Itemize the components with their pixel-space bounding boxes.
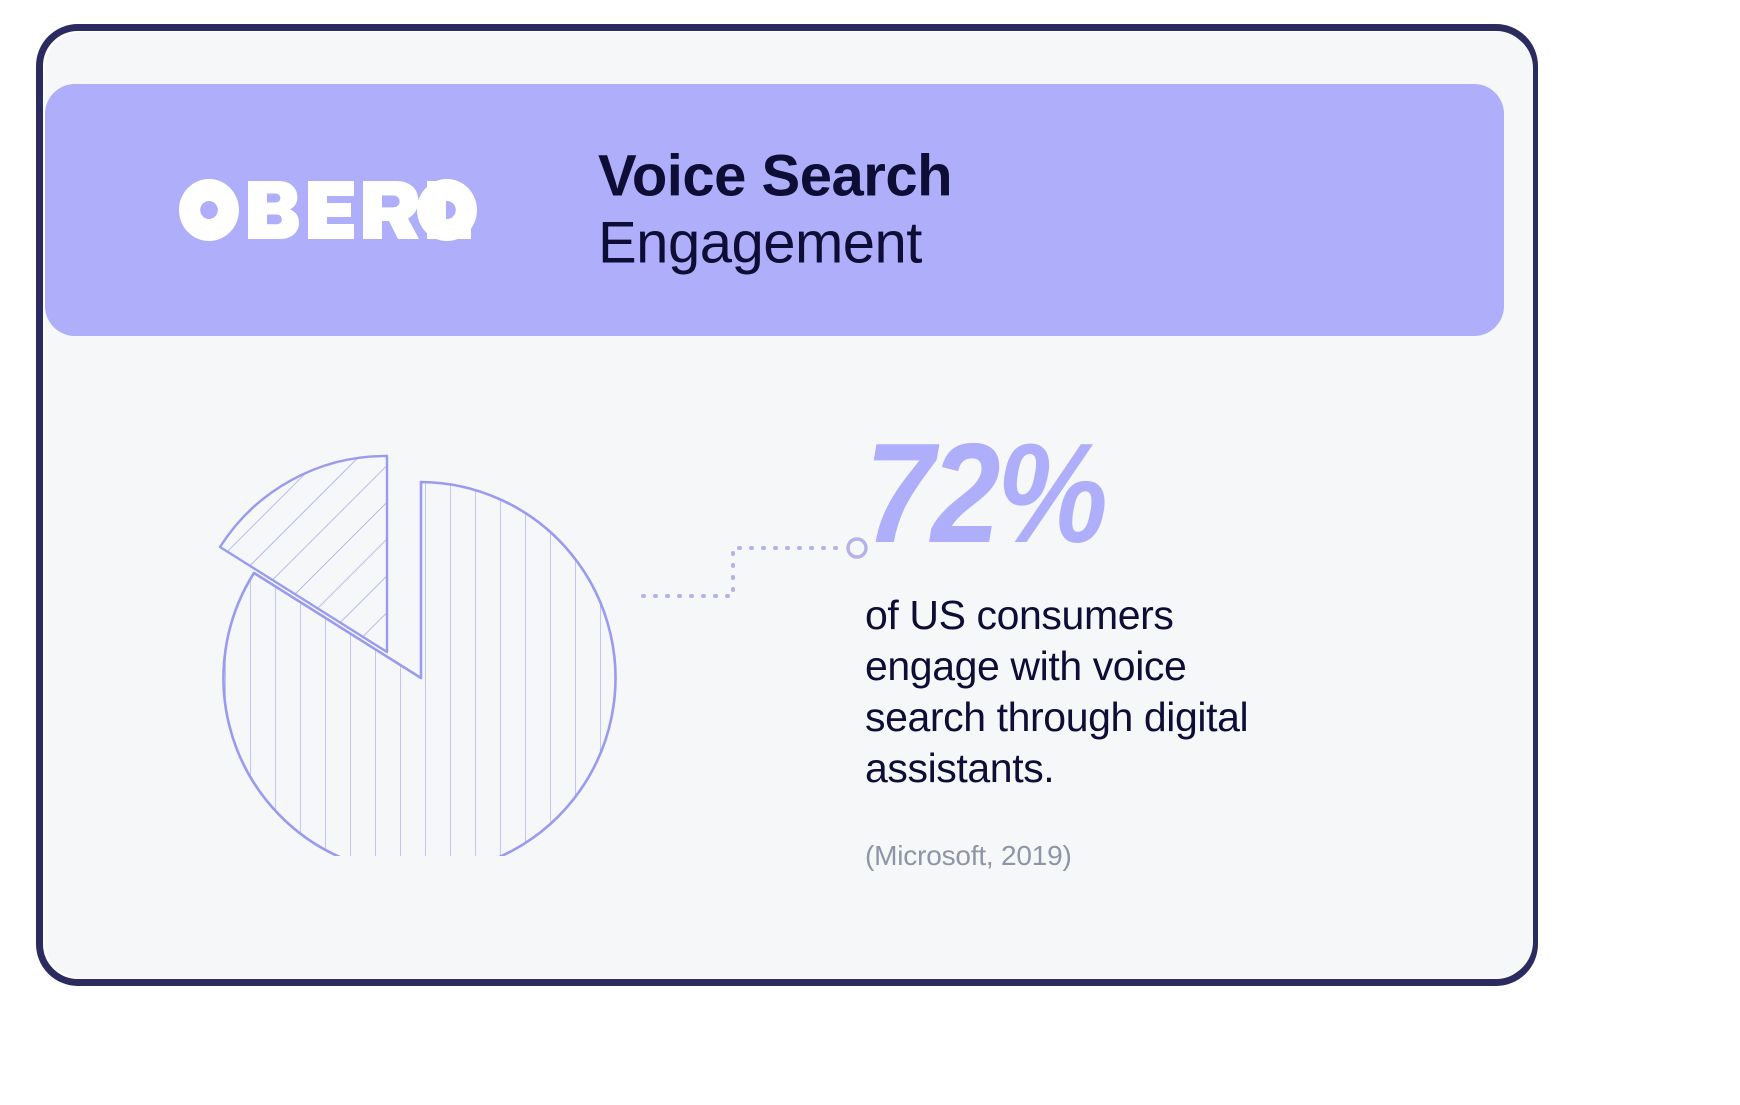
- pie-chart-icon: [175, 406, 675, 856]
- callout-connector: [585, 486, 885, 616]
- circle-endpoint-icon: [848, 539, 866, 557]
- stat-description: of US consumers engage with voice search…: [865, 590, 1285, 793]
- pie-chart-illustration: [175, 406, 675, 856]
- connector-dotted-path: [643, 548, 847, 596]
- stat-value: 72%: [865, 436, 1323, 552]
- stat-block: 72% of US consumers engage with voice se…: [865, 436, 1385, 872]
- oberlo-wordmark-icon: [179, 179, 479, 241]
- connector-icon: [585, 486, 885, 616]
- page-title-primary: Voice Search: [598, 146, 952, 207]
- page-title-secondary: Engagement: [598, 213, 952, 274]
- infographic-card: Voice Search Engagement: [45, 32, 1533, 978]
- oberlo-logo: [179, 179, 479, 241]
- header-title-block: Voice Search Engagement: [598, 146, 952, 275]
- main-content: 72% of US consumers engage with voice se…: [45, 336, 1533, 978]
- header-banner: Voice Search Engagement: [45, 84, 1504, 336]
- stat-source-citation: (Microsoft, 2019): [865, 840, 1385, 872]
